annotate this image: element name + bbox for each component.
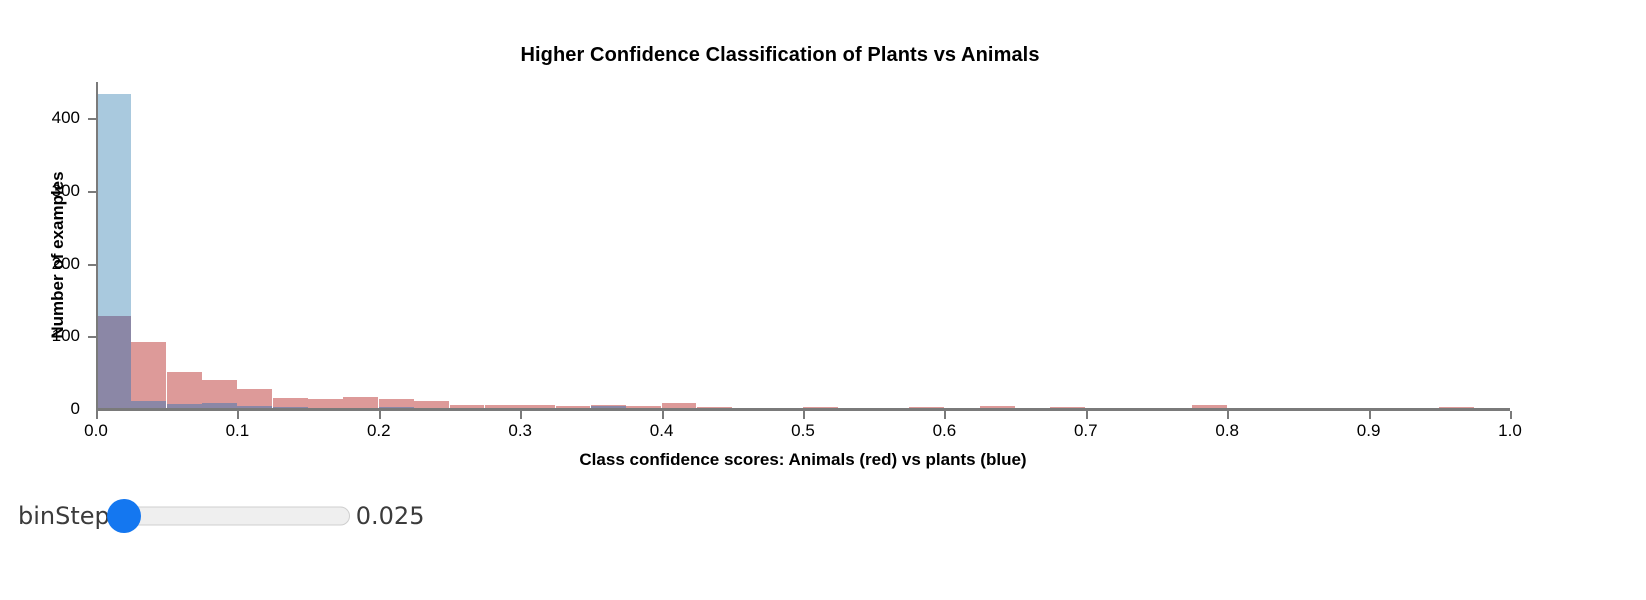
- y-tick-mark: [88, 264, 96, 266]
- y-axis-title: Number of examples: [48, 105, 68, 405]
- x-tick-label: 0.5: [773, 421, 833, 441]
- slider-track[interactable]: [112, 507, 350, 526]
- y-tick-mark: [88, 118, 96, 120]
- y-tick-mark: [88, 336, 96, 338]
- bar-animals: [131, 342, 166, 409]
- x-tick-mark: [803, 411, 805, 419]
- x-tick-label: 1.0: [1480, 421, 1540, 441]
- x-tick-mark: [96, 411, 98, 419]
- x-tick-mark: [1369, 411, 1371, 419]
- x-axis-title: Class confidence scores: Animals (red) v…: [96, 450, 1510, 470]
- bin-step-label: binStep: [18, 504, 110, 528]
- x-tick-mark: [944, 411, 946, 419]
- x-tick-mark: [1510, 411, 1512, 419]
- slider-thumb[interactable]: [107, 499, 141, 533]
- x-tick-mark: [1227, 411, 1229, 419]
- x-tick-mark: [1086, 411, 1088, 419]
- x-tick-label: 0.4: [632, 421, 692, 441]
- x-tick-mark: [520, 411, 522, 419]
- plot-area: [96, 82, 1510, 409]
- x-tick-label: 0.0: [66, 421, 126, 441]
- y-tick-mark: [88, 191, 96, 193]
- bin-step-slider[interactable]: [112, 504, 350, 528]
- histogram-bars: [96, 82, 1510, 409]
- x-tick-mark: [379, 411, 381, 419]
- x-tick-label: 0.3: [490, 421, 550, 441]
- x-tick-mark: [237, 411, 239, 419]
- x-tick-label: 0.1: [207, 421, 267, 441]
- x-tick-label: 0.8: [1197, 421, 1257, 441]
- chart-title: Higher Confidence Classification of Plan…: [0, 44, 1560, 67]
- y-axis-line: [96, 82, 98, 409]
- x-tick-label: 0.7: [1056, 421, 1116, 441]
- x-tick-label: 0.6: [914, 421, 974, 441]
- bin-step-value: 0.025: [356, 504, 425, 528]
- chart-page: Higher Confidence Classification of Plan…: [0, 0, 1646, 600]
- x-tick-label: 0.9: [1339, 421, 1399, 441]
- bin-step-control: binStep 0.025: [18, 494, 424, 538]
- bar-overlap: [96, 316, 131, 409]
- x-tick-label: 0.2: [349, 421, 409, 441]
- x-tick-mark: [662, 411, 664, 419]
